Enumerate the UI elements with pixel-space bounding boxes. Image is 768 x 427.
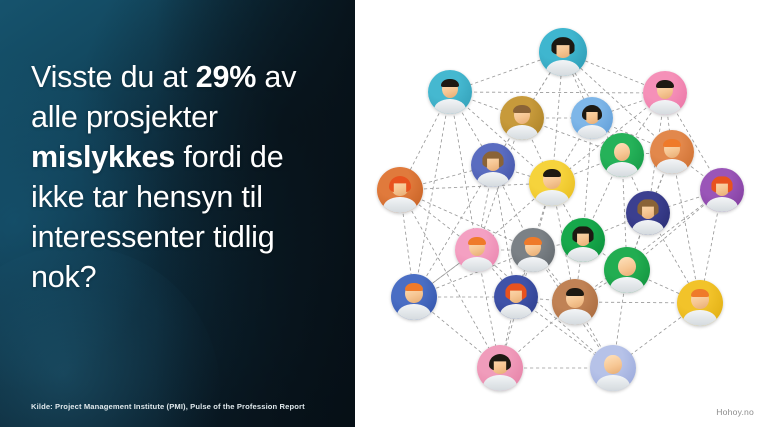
avatar-body (567, 247, 599, 262)
stakeholder-network-illustration (355, 0, 768, 427)
avatar-blue-red-lower (494, 275, 538, 319)
avatar-gold-inner-left (500, 96, 544, 140)
avatar-hair (513, 105, 530, 113)
headline-emphasis-mislykkes: mislykkes (31, 140, 175, 174)
avatar-head (604, 355, 621, 374)
avatar-brown-lower (552, 279, 598, 325)
avatar-gray-mid (511, 228, 555, 272)
avatar-lightblue-center (571, 97, 613, 139)
avatar-periwinkle-bottom (590, 345, 636, 391)
avatar-hair (524, 237, 541, 245)
avatar-body (477, 172, 509, 187)
source-citation: Kilde: Project Management Institute (PMI… (31, 401, 341, 412)
avatar-body (500, 304, 532, 319)
avatar-navy-right (626, 191, 670, 235)
avatar-pink-mid (455, 228, 499, 272)
avatar-hair (405, 283, 423, 292)
avatar-cyan-upper-left (428, 70, 472, 114)
headline-part-1: Visste du at (31, 60, 196, 94)
avatar-body (683, 310, 716, 326)
avatar-body (397, 304, 430, 320)
headline-statistic: 29% (196, 60, 256, 94)
avatar-body (606, 162, 638, 177)
avatar-body (434, 99, 466, 114)
avatar-hair (691, 289, 709, 298)
avatar-hair (566, 288, 584, 297)
avatar-green-mid (600, 133, 644, 177)
avatar-body (546, 60, 581, 76)
avatar-head (614, 143, 630, 161)
avatar-body (649, 100, 681, 115)
avatar-hair (656, 80, 673, 88)
avatar-body (483, 375, 516, 391)
infographic-canvas: Visste du at 29% av alle prosjekter misl… (0, 0, 768, 427)
avatar-body (535, 190, 568, 206)
avatar-orange-right (650, 130, 694, 174)
avatar-green-lower-right (604, 247, 650, 293)
avatar-body (656, 159, 688, 174)
avatar-body (577, 125, 607, 139)
avatar-orangered-left (377, 167, 423, 213)
avatar-body (517, 257, 549, 272)
avatar-blue-lower-left (391, 274, 437, 320)
avatar-body (461, 257, 493, 272)
avatar-body (558, 309, 591, 325)
statistic-panel: Visste du at 29% av alle prosjekter misl… (0, 0, 355, 427)
avatar-body (632, 220, 664, 235)
avatar-body (383, 197, 416, 213)
watermark-label: Hohoy.no (716, 407, 754, 417)
avatar-body (506, 125, 538, 140)
avatar-body (706, 197, 738, 212)
avatar-yellow-center (529, 160, 575, 206)
avatar-hair (441, 79, 458, 87)
avatar-green-dark-mid (561, 218, 605, 262)
page-title: Visste du at 29% av alle prosjekter misl… (31, 57, 331, 297)
network-edge (450, 92, 665, 93)
avatar-head (618, 257, 635, 276)
avatar-teal-top (539, 28, 587, 76)
avatar-purple-far-right (700, 168, 744, 212)
avatar-hair (543, 169, 561, 178)
avatar-body (610, 277, 643, 293)
avatar-body (596, 375, 629, 391)
avatar-violet-mid-left (471, 143, 515, 187)
avatar-hair (663, 139, 680, 147)
avatar-pink-bottom (477, 345, 523, 391)
avatar-hair (468, 237, 485, 245)
avatar-yellow-lower-right (677, 280, 723, 326)
avatar-pink-upper-right (643, 71, 687, 115)
